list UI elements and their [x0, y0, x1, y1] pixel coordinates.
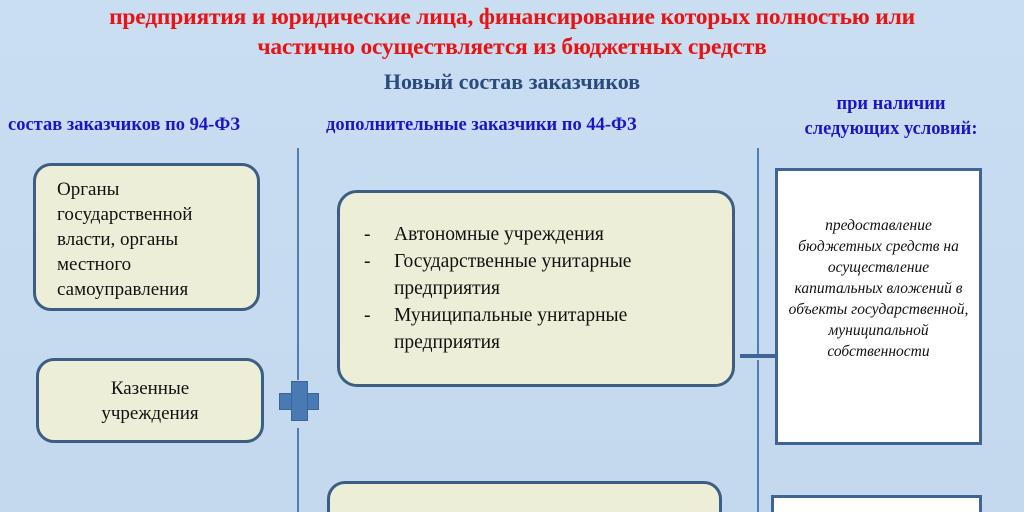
box-bottom-center-partial: [327, 481, 722, 512]
list-item-dash-marker: -: [364, 302, 394, 329]
column-label-middle: дополнительные заказчики по 44-ФЗ: [326, 113, 736, 138]
connector-vertical-right-top: [757, 148, 759, 354]
slide-title-red-line1: предприятия и юридические лица, финансир…: [109, 4, 915, 30]
connector-horizontal-to-conditions: [740, 354, 776, 358]
list-item-dash-marker: -: [364, 221, 394, 248]
column-label-right-line1: при наличии: [766, 92, 1016, 117]
slide-title-red-line2: частично осуществляется из бюджетных сре…: [0, 32, 1024, 62]
list-item-label: Муниципальные унитарные предприятия: [394, 302, 722, 356]
box-treasury-institutions-line2: учреждения: [39, 401, 261, 426]
list-item-label: Автономные учреждения: [394, 221, 722, 248]
box-government-bodies-text: Органы государственной власти, органы ме…: [57, 179, 192, 300]
list-item: - Автономные учреждения: [364, 221, 722, 248]
box-treasury-institutions-line1: Казенные: [39, 376, 261, 401]
list-item: - Муниципальные унитарные предприятия: [364, 302, 722, 356]
box-treasury-institutions-inner: Казенные учреждения: [39, 376, 261, 426]
slide-title-red: предприятия и юридические лица, финансир…: [0, 2, 1024, 62]
plus-connector-vertical-bar: [291, 381, 308, 421]
list-item-dash-marker: -: [364, 248, 394, 275]
connector-vertical-right-bottom: [757, 360, 759, 512]
column-label-right: при наличии следующих условий:: [766, 92, 1016, 142]
box-capital-investment-conditions-text: предоставление бюджетных средств на осущ…: [789, 217, 969, 360]
box-treasury-institutions: Казенные учреждения: [36, 358, 264, 443]
box-capital-investment-conditions: предоставление бюджетных средств на осущ…: [775, 168, 982, 445]
additional-customers-list: - Автономные учреждения - Государственны…: [340, 221, 732, 356]
box-additional-customers: - Автономные учреждения - Государственны…: [337, 190, 735, 387]
list-item-label: Государственные унитарные предприятия: [394, 248, 722, 302]
column-label-left: состав заказчиков по 94-ФЗ: [8, 113, 308, 138]
slide-canvas: предприятия и юридические лица, финансир…: [0, 0, 1024, 512]
box-government-bodies: Органы государственной власти, органы ме…: [33, 163, 260, 311]
connector-vertical-left-top: [297, 148, 299, 380]
plus-connector-icon: [279, 381, 319, 421]
connector-vertical-left-bottom: [297, 428, 299, 512]
list-item: - Государственные унитарные предприятия: [364, 248, 722, 302]
column-label-right-line2: следующих условий:: [766, 117, 1016, 142]
box-bottom-right-partial: [771, 495, 982, 512]
